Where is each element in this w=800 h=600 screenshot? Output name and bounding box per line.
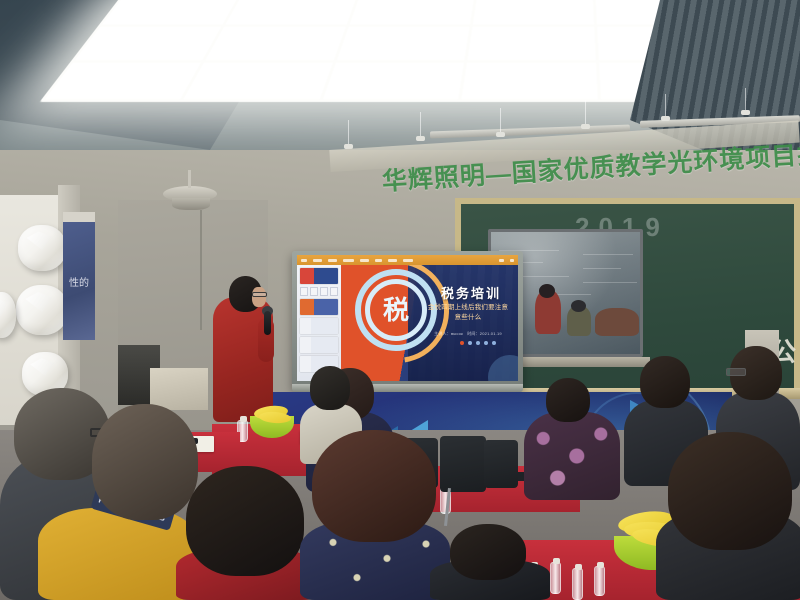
projector-mount bbox=[188, 170, 191, 188]
hanging-wire bbox=[420, 112, 421, 138]
display-panel: 税 税务培训 金税四期上线后我们要注意 意些什么 主讲人：высок 时间：20… bbox=[297, 255, 518, 381]
hanging-wire bbox=[745, 88, 746, 112]
hanging-wire bbox=[665, 94, 666, 118]
slide-meta: 主讲人：высок 时间：2021.01.19 bbox=[424, 331, 512, 337]
wall-poster: 性的 bbox=[63, 222, 95, 340]
active-slide: 税 税务培训 金税四期上线后我们要注意 意些什么 主讲人：высок 时间：20… bbox=[341, 265, 518, 381]
hanging-wire bbox=[348, 120, 349, 146]
slide-thumbnail-rail[interactable] bbox=[297, 265, 341, 381]
slide-thumbnail[interactable] bbox=[300, 299, 338, 315]
hanging-wire bbox=[585, 100, 586, 126]
slide-title: 税务培训 bbox=[430, 283, 512, 302]
hanging-wire bbox=[500, 108, 501, 134]
slide-thumbnail[interactable] bbox=[300, 268, 338, 284]
presenter-face bbox=[252, 287, 266, 307]
poster-text: 性的 bbox=[69, 274, 89, 289]
glasses-icon bbox=[252, 292, 267, 297]
slide-badge-character: 税 bbox=[378, 292, 414, 328]
ceiling-light-panel bbox=[40, 0, 741, 102]
water-bottle bbox=[550, 562, 561, 594]
slide-dot-indicators bbox=[460, 341, 496, 345]
cardboard-box-stack bbox=[150, 368, 208, 410]
slide-subtitle-line2: 意些什么 bbox=[422, 313, 514, 323]
water-bottle bbox=[594, 566, 605, 596]
ppt-ribbon[interactable] bbox=[297, 255, 518, 265]
reflected-presenter-head bbox=[539, 284, 555, 298]
hanging-node bbox=[581, 124, 590, 129]
hanging-node bbox=[496, 132, 505, 137]
chair bbox=[484, 440, 518, 488]
projector-cable bbox=[200, 210, 202, 330]
slide-thumbnail-row[interactable] bbox=[300, 287, 338, 296]
classroom-photo-scene: 性的 华辉照明—国家优质教学光环境项目批达 2019 公 bbox=[0, 0, 800, 600]
slide-subtitle-line1: 金税四期上线后我们要注意 bbox=[422, 303, 514, 313]
slide-thumbnail[interactable] bbox=[300, 337, 338, 353]
reflected-attendee-head bbox=[571, 300, 586, 312]
ceiling-projector-body bbox=[172, 198, 210, 210]
hanging-node bbox=[741, 110, 750, 115]
reflected-audience-row bbox=[595, 308, 639, 336]
microphone bbox=[264, 311, 271, 335]
slide-thumbnail[interactable] bbox=[300, 318, 338, 334]
wall-disc-decor bbox=[16, 285, 68, 335]
glasses-icon bbox=[726, 368, 746, 376]
wall-disc-decor bbox=[18, 225, 66, 271]
water-bottle bbox=[572, 568, 583, 600]
hanging-node bbox=[416, 136, 425, 141]
hanging-node bbox=[661, 116, 670, 121]
chair bbox=[440, 436, 486, 492]
slide-subtitle: 金税四期上线后我们要注意 意些什么 bbox=[422, 303, 514, 323]
